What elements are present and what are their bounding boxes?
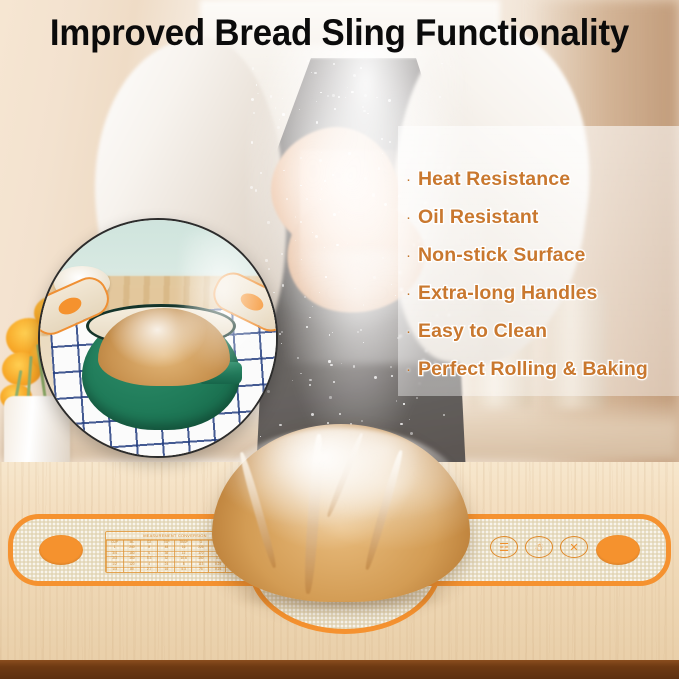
bullet-icon: · [406, 248, 411, 263]
flour-speck [364, 94, 367, 97]
flour-speck [378, 167, 381, 170]
oven-safe-icon: ☲ [490, 536, 518, 558]
flour-speck [319, 292, 320, 293]
chart-cell: 2.7 [141, 567, 158, 572]
feature-item-1: ·Heat Resistance [406, 160, 679, 198]
bullet-icon: · [406, 324, 411, 339]
inset-sling-hole-left [56, 294, 84, 317]
flour-speck [251, 141, 253, 143]
flour-speck [309, 379, 311, 381]
feature-label: Non-stick Surface [418, 244, 586, 267]
flour-speck [300, 157, 302, 159]
flour-speck [329, 334, 330, 335]
chart-cell: 75 [192, 567, 209, 572]
chart-cell: 16 [158, 567, 175, 572]
flour-speck [307, 60, 309, 62]
feature-item-4: ·Extra-long Handles [406, 274, 679, 312]
feature-list: ·Heat Resistance·Oil Resistant·Non-stick… [406, 160, 679, 388]
flour-speck [330, 364, 332, 366]
product-marketing-image: MEASUREMENT CONVERSION CUPMLOZTSPTBSPGLB… [0, 0, 679, 679]
flour-speck [341, 363, 342, 364]
flour-speck [360, 67, 362, 69]
flour-speck [309, 317, 310, 318]
feature-item-5: ·Easy to Clean [406, 312, 679, 350]
flour-speck [279, 119, 280, 120]
flour-speck [333, 213, 336, 216]
flour-speck [297, 357, 298, 358]
flour-speck [252, 67, 254, 69]
flour-speck [257, 93, 258, 94]
flour-speck [347, 87, 348, 88]
flour-speck [364, 177, 367, 180]
flour-speck [277, 126, 280, 129]
flour-speck [311, 72, 312, 73]
flour-speck [339, 413, 341, 415]
flour-speck [353, 365, 355, 367]
bullet-icon: · [406, 172, 411, 187]
flour-speck [282, 113, 285, 116]
flour-speck [329, 396, 331, 398]
flour-speck [376, 97, 378, 99]
flour-speck [328, 360, 330, 362]
flour-speck [300, 221, 302, 223]
feature-label: Easy to Clean [418, 320, 547, 343]
flour-speck [373, 276, 376, 279]
flour-speck [403, 403, 404, 404]
flour-speck [312, 306, 313, 307]
flour-speck [354, 288, 355, 289]
chart-cell: 1/3 [106, 567, 123, 572]
bullet-icon: · [406, 286, 411, 301]
flour-speck [316, 101, 317, 102]
flour-speck [348, 152, 351, 155]
flour-speck [255, 189, 257, 191]
care-instruction-icons: ☲☃✕ [490, 536, 588, 558]
feature-item-3: ·Non-stick Surface [406, 236, 679, 274]
flour-speck [279, 333, 281, 335]
no-sharp-knife-icon: ✕ [560, 536, 588, 558]
flour-speck [316, 121, 318, 123]
flour-speck [282, 284, 284, 286]
feature-item-2: ·Oil Resistant [406, 198, 679, 236]
dishwasher-safe-icon: ☃ [525, 536, 553, 558]
feature-item-6: ·Perfect Rolling & Baking [406, 350, 679, 388]
flour-speck [275, 107, 277, 109]
flour-speck [360, 329, 362, 331]
flour-speck [391, 375, 393, 377]
inset-steam [182, 230, 278, 380]
flour-speck [363, 110, 365, 112]
flour-speck [352, 91, 354, 93]
feature-label: Oil Resistant [418, 206, 539, 229]
flour-speck [314, 72, 317, 75]
bullet-icon: · [406, 362, 411, 377]
flour-speck [367, 113, 368, 114]
inset-product-photo [38, 218, 278, 458]
flour-speck [321, 188, 322, 189]
flour-speck [409, 419, 410, 420]
feature-label: Heat Resistance [418, 168, 570, 191]
flour-speck [299, 109, 300, 110]
flour-speck [333, 381, 335, 383]
hanging-hole-left [39, 535, 83, 565]
feature-label: Extra-long Handles [418, 282, 598, 305]
flour-speck [319, 159, 322, 162]
flour-speck [256, 84, 258, 86]
chart-cell: 5.3 [175, 567, 192, 572]
flour-speck [361, 420, 363, 422]
flour-speck [270, 95, 272, 97]
flour-speck [439, 96, 441, 98]
page-title: Improved Bread Sling Functionality [20, 12, 658, 54]
hanging-hole-right [596, 535, 640, 565]
flour-speck [372, 193, 375, 196]
flour-speck [281, 343, 282, 344]
flour-speck [374, 376, 377, 379]
counter-front-edge [0, 660, 679, 679]
feature-label: Perfect Rolling & Baking [418, 358, 648, 381]
chart-cell: 80 [123, 567, 140, 572]
flour-speck [306, 198, 308, 200]
flour-speck [324, 247, 325, 248]
flour-speck [357, 331, 359, 333]
bullet-icon: · [406, 210, 411, 225]
flour-speck [396, 400, 397, 401]
